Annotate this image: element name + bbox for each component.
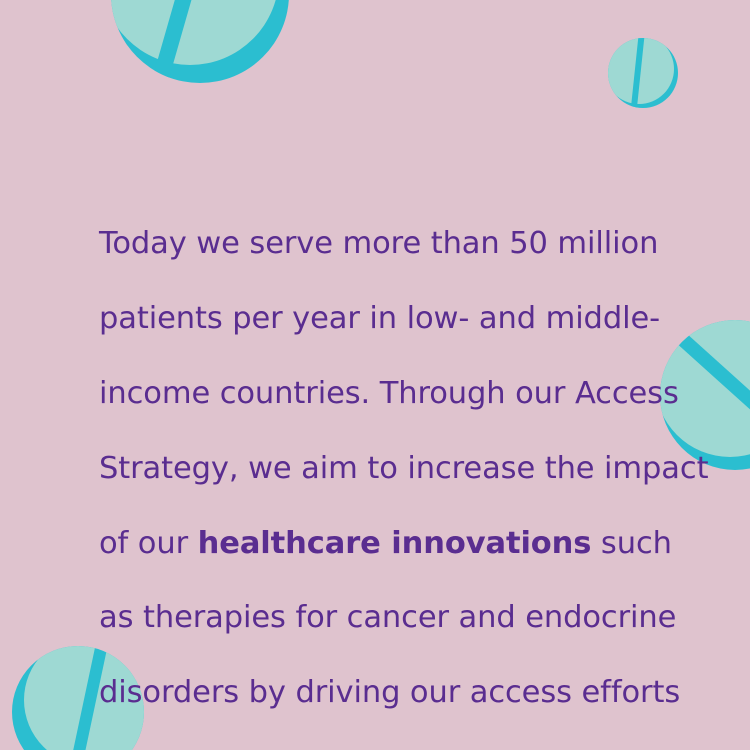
statement-line-6: as therapies for cancer and endocrine xyxy=(99,599,679,636)
emphasis-healthcare-innovations: healthcare innovations xyxy=(198,526,592,561)
pill-score-line xyxy=(628,16,647,136)
statement-line-1: Today we serve more than 50 million xyxy=(99,225,679,262)
statement-line-2: patients per year in low- and middle- xyxy=(99,300,679,337)
pill-body-dark xyxy=(608,38,678,108)
pill-body-dark xyxy=(111,0,289,83)
pill-face-light xyxy=(604,34,674,104)
statement-line-5-plain-start: of our xyxy=(99,526,198,561)
statement-line-3: income countries. Through our Access xyxy=(99,375,679,412)
tablet-pill-top-left xyxy=(112,0,312,104)
tablet-pill-top-right xyxy=(606,36,686,116)
pill-face-light xyxy=(101,0,279,65)
statement-line-5-plain-end: such xyxy=(591,526,672,561)
statement-line-5: of our healthcare innovations such xyxy=(99,525,679,562)
statement-line-7: disorders by driving our access efforts xyxy=(99,674,679,711)
access-strategy-statement-poster: Today we serve more than 50 million pati… xyxy=(0,0,750,750)
pill-score-line xyxy=(153,0,229,82)
statement-text-block: Today we serve more than 50 million pati… xyxy=(99,188,679,750)
statement-line-4: Strategy, we aim to increase the impact xyxy=(99,450,679,487)
